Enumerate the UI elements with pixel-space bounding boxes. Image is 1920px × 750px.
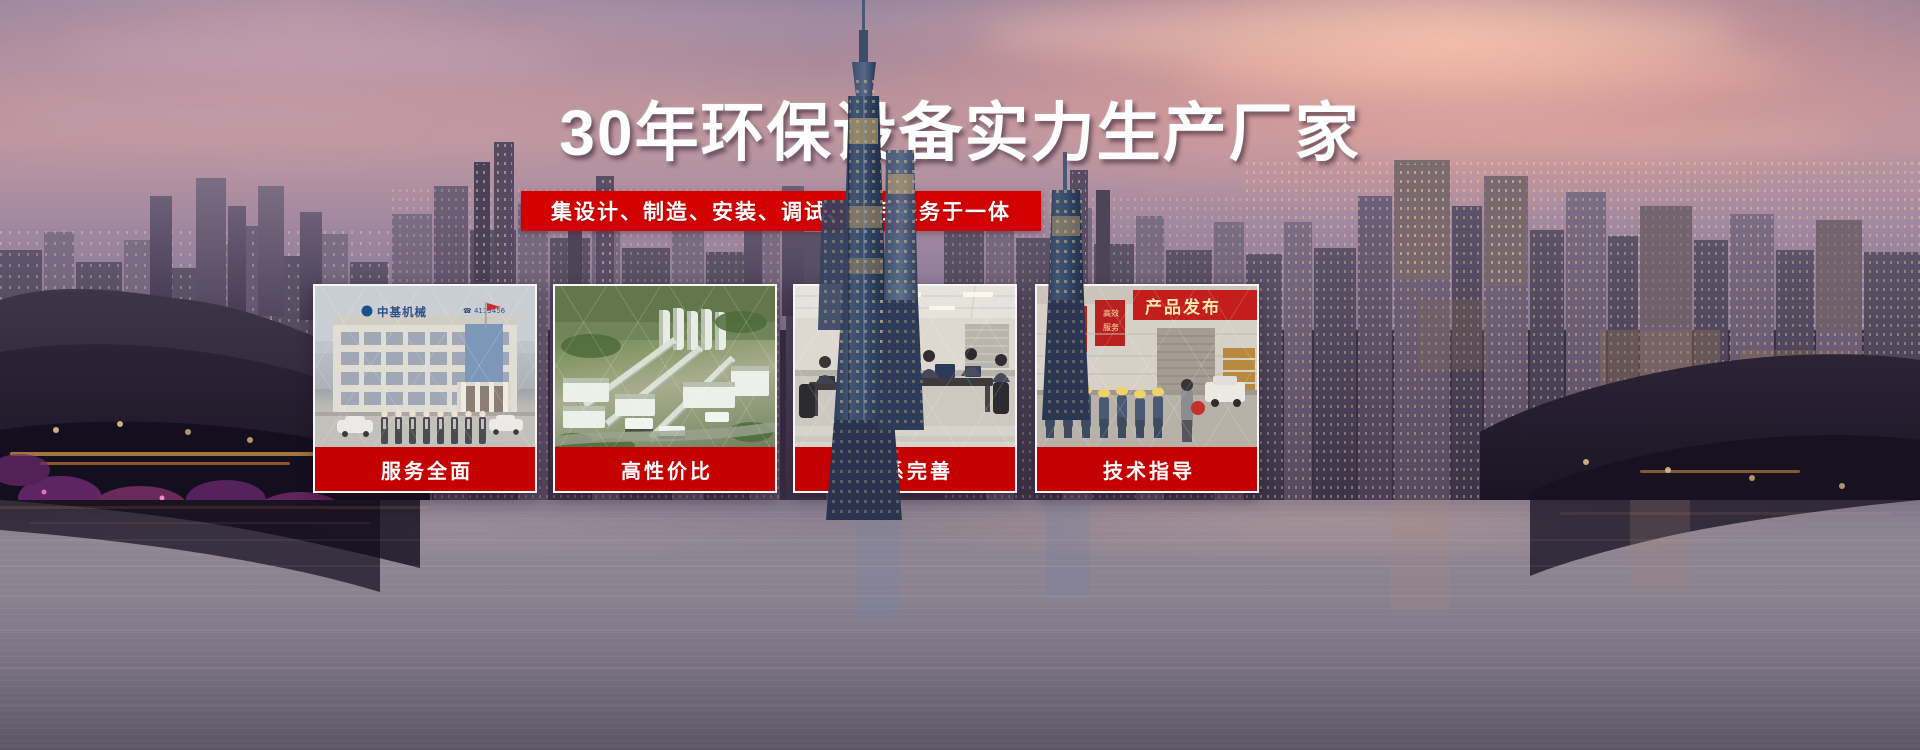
page-title: 30年环保设备实力生产厂家 [0, 101, 1920, 165]
svg-text:企业: 企业 [883, 336, 899, 346]
feature-card[interactable]: 高性价比 [553, 284, 777, 493]
card-caption: 技术指导 [1035, 447, 1259, 493]
svg-text:服务: 服务 [1103, 322, 1119, 332]
svg-text:产品发布: 产品发布 [1145, 297, 1221, 318]
river-water [0, 500, 1920, 750]
subtitle-text: 集设计、制造、安装、调试、售后服务于一体 [551, 196, 1011, 226]
card-label: 高性价比 [621, 455, 713, 484]
card-label: 服务全面 [381, 455, 473, 484]
feature-card-list: 中基机械 ☎ 4113456 [0, 284, 1920, 494]
svg-text:制造: 制造 [1066, 328, 1082, 338]
card-photo-aerial-plant [555, 286, 775, 451]
feature-card[interactable]: 产品发布 专业 制造 高效 服务 [1035, 284, 1259, 493]
svg-text:中基机械: 中基机械 [377, 305, 427, 319]
svg-text:专业: 专业 [1066, 314, 1082, 324]
feature-card[interactable]: 企业 [793, 284, 1017, 493]
svg-text:☎ 4113456: ☎ 4113456 [463, 307, 506, 315]
card-photo-factory-training: 产品发布 专业 制造 高效 服务 [1037, 286, 1257, 451]
hero-banner: 30年环保设备实力生产厂家 集设计、制造、安装、调试、售后服务于一体 [0, 0, 1920, 750]
card-caption: 体系完善 [793, 447, 1017, 493]
feature-card[interactable]: 中基机械 ☎ 4113456 [313, 284, 537, 493]
svg-text:高效: 高效 [1103, 308, 1119, 318]
subtitle-bar: 集设计、制造、安装、调试、售后服务于一体 [521, 191, 1041, 231]
card-label: 体系完善 [861, 455, 953, 484]
card-caption: 高性价比 [553, 447, 777, 493]
card-photo-office-building: 中基机械 ☎ 4113456 [315, 286, 535, 451]
card-label: 技术指导 [1103, 455, 1195, 484]
card-photo-office-interior: 企业 [795, 286, 1015, 451]
card-caption: 服务全面 [313, 447, 537, 493]
